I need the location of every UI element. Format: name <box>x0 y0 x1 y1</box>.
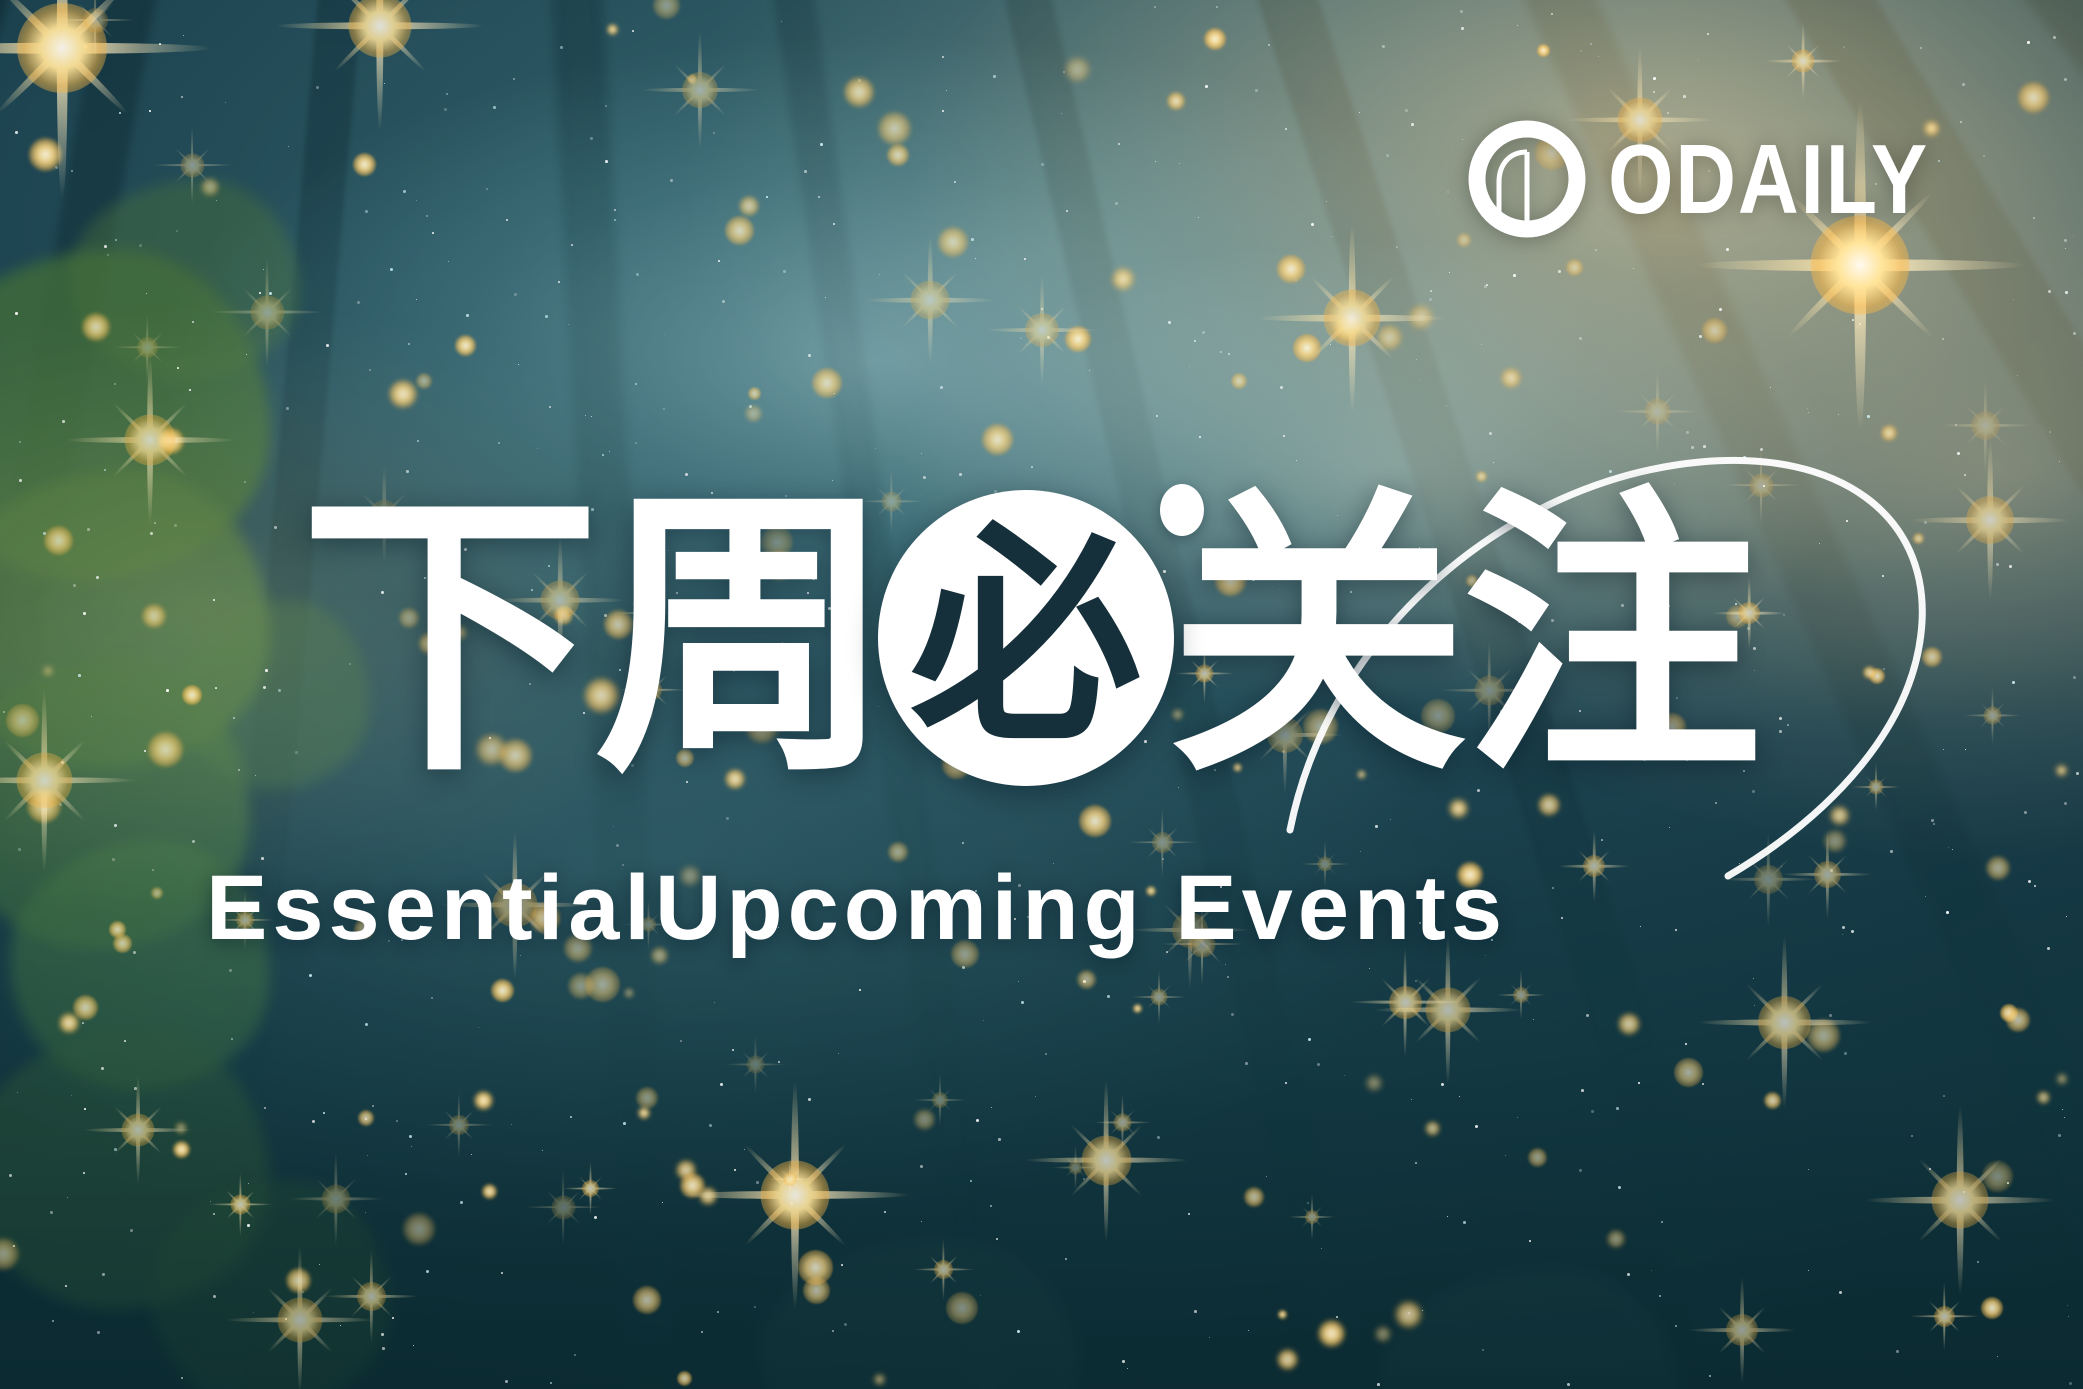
sparkle-dot <box>574 1354 576 1356</box>
sparkle-dot <box>825 297 826 298</box>
sparkle-dot <box>1194 1310 1197 1313</box>
sparkle-dot <box>1952 849 1953 850</box>
sparkle-dot <box>1430 290 1432 292</box>
sparkle-dot <box>732 1049 734 1051</box>
bokeh-light <box>1167 92 1185 110</box>
sparkle-dot <box>15 131 18 134</box>
sparkle-dot <box>215 687 217 689</box>
bokeh-light <box>1922 647 1942 667</box>
sparkle-dot <box>1590 43 1592 45</box>
sparkle-dot <box>808 354 811 357</box>
sparkle-dot <box>1336 1316 1338 1318</box>
sparkle-dot <box>372 1105 374 1107</box>
bokeh-light <box>1277 255 1305 283</box>
sparkle-dot <box>1396 246 1398 248</box>
sparkle-dot <box>50 1211 53 1214</box>
sparkle-dot <box>159 43 161 45</box>
bokeh-light <box>1981 1297 2003 1319</box>
sparkle-dot <box>213 1213 215 1215</box>
sparkle-dot <box>720 1083 723 1086</box>
bokeh-light <box>1409 305 1433 329</box>
sparkle-dot <box>1929 1168 1931 1170</box>
sparkle-dot <box>605 105 607 107</box>
sparkle-dot <box>181 96 183 98</box>
bokeh-light <box>687 74 697 84</box>
sparkle-dot <box>286 407 289 410</box>
sparkle-dot <box>635 383 637 385</box>
sparkle-dot <box>602 454 604 456</box>
sparkle-dot <box>1020 337 1022 339</box>
sparkle-dot <box>1807 408 1808 409</box>
bokeh-light <box>1764 1092 1781 1109</box>
sparkle-dot <box>781 21 782 22</box>
sparkle-dot <box>134 1087 137 1090</box>
bokeh-light <box>1913 533 1924 544</box>
sparkle-dot <box>295 751 298 754</box>
bokeh-light <box>1065 57 1090 82</box>
sparkle-dot <box>844 1323 847 1326</box>
sparkle-dot <box>635 442 637 444</box>
bokeh-light <box>938 227 968 257</box>
sparkle-dot <box>19 479 22 482</box>
sparkle-dot <box>96 576 99 579</box>
sparkle-dot <box>149 110 151 112</box>
bokeh-light <box>1231 373 1247 389</box>
bokeh-light <box>113 934 132 953</box>
sparkle-dot <box>1846 520 1848 522</box>
sparkle-dot <box>1481 344 1482 345</box>
sparkle-dot <box>1955 424 1957 426</box>
sparkle-dot <box>1155 161 1156 162</box>
sparkle-dot <box>1859 323 1861 325</box>
sparkle-dot <box>265 669 268 672</box>
bokeh-light <box>173 1141 190 1158</box>
sparkle-dot <box>1122 1360 1125 1363</box>
sparkle-dot <box>613 826 614 827</box>
bokeh-light <box>491 979 514 1002</box>
sparkle-dot <box>980 1295 981 1296</box>
sparkle-dot <box>1779 730 1782 733</box>
bokeh-light <box>151 887 163 899</box>
sparkle-dot <box>244 481 246 483</box>
sparkle-dot <box>1447 191 1449 193</box>
sparkle-dot <box>1882 575 1884 577</box>
sparkle-dot <box>946 90 947 91</box>
sparkle-dot <box>486 188 488 190</box>
sparkle-dot <box>1411 123 1414 126</box>
sparkle-dot <box>2009 565 2012 568</box>
sparkle-dot <box>177 367 179 369</box>
sparkle-dot <box>471 1154 472 1155</box>
bokeh-light <box>1112 268 1134 290</box>
sparkle-dot <box>15 312 18 315</box>
sparkle-dot <box>1842 934 1843 935</box>
sparkle-dot <box>560 46 563 49</box>
sparkle-dot <box>83 612 86 615</box>
sparkle-dot <box>605 160 608 163</box>
bokeh-light <box>2006 1008 2030 1032</box>
sparkle-dot <box>614 219 616 221</box>
sparkle-dot <box>130 1229 133 1232</box>
sparkle-dot <box>514 293 517 296</box>
sparkle-dot <box>1179 163 1180 164</box>
sparkle-dot <box>841 1264 843 1266</box>
sparkle-dot <box>102 1273 105 1276</box>
sparkle-dot <box>1702 1083 1704 1085</box>
sparkle-dot <box>1707 33 1709 35</box>
sparkle-dot <box>19 441 21 443</box>
bokeh-light <box>1566 259 1583 276</box>
bokeh-light <box>1133 1004 1142 1013</box>
sparkle-dot <box>71 170 73 172</box>
sparkle-dot <box>1041 308 1043 310</box>
sparkle-dot <box>1852 319 1854 321</box>
sparkle-dot <box>1896 1350 1899 1353</box>
sparkle-dot <box>879 274 880 275</box>
sparkle-dot <box>766 196 768 198</box>
sparkle-dot <box>991 1107 992 1108</box>
sparkle-dot <box>542 1150 543 1151</box>
sparkle-dot <box>1667 112 1669 114</box>
sparkle-dot <box>1083 1178 1085 1180</box>
sparkle-dot <box>1416 359 1417 360</box>
headline-badge: 必 <box>878 490 1174 786</box>
sparkle-dot <box>104 469 106 471</box>
sparkle-dot <box>713 132 715 134</box>
sparkle-dot <box>213 1295 216 1298</box>
bokeh-light <box>1986 856 2010 880</box>
bokeh-light <box>416 373 432 389</box>
page-subtitle: EssentialUpcoming Events <box>206 852 1507 964</box>
sparkle-dot <box>1924 521 1927 524</box>
sparkle-dot <box>570 1116 572 1118</box>
bokeh-light <box>1702 318 1727 343</box>
sparkle-dot <box>714 1002 715 1003</box>
sparkle-dot <box>416 299 417 300</box>
sparkle-dot <box>498 442 500 444</box>
sparkle-dot <box>189 389 191 391</box>
sparkle-dot <box>2073 676 2076 679</box>
sparkle-dot <box>537 448 538 449</box>
bokeh-light <box>182 685 202 705</box>
sparkle-dot <box>942 56 944 58</box>
sparkle-dot <box>518 364 519 365</box>
sparkle-dot <box>369 369 371 371</box>
sparkle-dot <box>1726 248 1729 251</box>
sparkle-dot <box>2064 802 2067 805</box>
sparkle-dot <box>67 1197 68 1198</box>
bokeh-light <box>1375 1326 1391 1342</box>
bokeh-light <box>1807 1019 1840 1052</box>
sparkle-dot <box>1760 448 1763 451</box>
sparkle-dot <box>1601 839 1603 841</box>
bokeh-light <box>2056 765 2067 776</box>
sparkle-dot <box>1819 543 1820 544</box>
sparkle-dot <box>326 344 329 347</box>
sparkle-dot <box>2066 916 2067 917</box>
bokeh-light <box>403 1213 435 1245</box>
bokeh-light <box>455 335 476 356</box>
sparkle-dot <box>1024 258 1026 260</box>
sparkle-dot <box>1296 460 1297 461</box>
sparkle-dot <box>571 244 573 246</box>
sparkle-dot <box>493 106 496 109</box>
bokeh-light <box>201 178 219 196</box>
bokeh-light <box>638 1107 650 1119</box>
sparkle-dot <box>2064 78 2067 81</box>
sparkle-dot <box>717 1311 719 1313</box>
sparkle-dot <box>1285 128 1287 130</box>
sparkle-dot <box>1886 303 1887 304</box>
sparkle-dot <box>426 1270 429 1273</box>
sparkle-dot <box>18 848 21 851</box>
sparkle-dot <box>192 840 195 843</box>
sparkle-dot <box>114 1148 117 1151</box>
odaily-logo[interactable]: ODAILY <box>1468 120 1981 238</box>
bokeh-light <box>1366 1075 1382 1091</box>
sparkle-dot <box>833 223 835 225</box>
sparkle-dot <box>1675 929 1677 931</box>
sparkle-dot <box>665 334 666 335</box>
sparkle-dot <box>431 997 433 999</box>
bokeh-light <box>585 967 620 1002</box>
sparkle-dot <box>734 1169 736 1171</box>
bokeh-light <box>1277 1349 1298 1370</box>
sparkle-dot <box>1829 1014 1832 1017</box>
sparkle-dot <box>1627 1273 1630 1276</box>
sparkle-dot <box>213 599 215 601</box>
sparkle-dot <box>119 112 121 114</box>
sparkle-dot <box>1035 1096 1036 1097</box>
sparkle-dot <box>114 383 116 385</box>
bokeh-light <box>946 1292 978 1324</box>
sparkle-dot <box>133 951 136 954</box>
sparkle-dot <box>1517 1117 1518 1118</box>
sparkle-dot <box>312 1120 315 1123</box>
sparkle-dot <box>1946 911 1949 914</box>
sparkle-dot <box>432 232 434 234</box>
bokeh-light <box>1204 28 1226 50</box>
sparkle-dot <box>382 1347 385 1350</box>
sparkle-dot <box>288 146 289 147</box>
sparkle-dot <box>1661 1221 1663 1223</box>
sparkle-dot <box>466 314 469 317</box>
sparkle-dot <box>820 143 823 146</box>
bokeh-light <box>636 1087 658 1109</box>
badge-glyph: 必 <box>878 490 1174 786</box>
bokeh-light <box>624 988 634 998</box>
sparkle-dot <box>238 769 240 771</box>
sparkle-dot <box>408 343 410 345</box>
bokeh-light <box>175 1122 187 1134</box>
sparkle-dot <box>993 75 996 78</box>
sparkle-dot <box>1965 749 1966 750</box>
bokeh-light <box>1830 806 1849 825</box>
sparkle-dot <box>1280 386 1283 389</box>
sparkle-dot <box>1787 724 1789 726</box>
sparkle-dot <box>1475 1125 1478 1128</box>
sparkle-dot <box>1561 917 1563 919</box>
sparkle-dot <box>87 528 90 531</box>
bokeh-light <box>798 1250 833 1285</box>
sparkle-dot <box>1225 964 1226 965</box>
bokeh-light <box>482 1184 497 1199</box>
odaily-circle-p-mark-icon <box>1468 120 1586 238</box>
sparkle-dot <box>1513 274 1516 277</box>
bokeh-light <box>1278 1310 1287 1319</box>
sparkle-dot <box>2047 947 2050 950</box>
sparkle-dot <box>365 1023 368 1026</box>
sparkle-dot <box>1719 308 1722 311</box>
sparkle-dot <box>1154 6 1156 8</box>
sparkle-dot <box>1484 285 1487 288</box>
bokeh-light <box>1293 334 1321 362</box>
sparkle-dot <box>636 273 639 276</box>
bokeh-light <box>1982 1161 2013 1192</box>
sparkle-dot <box>1382 45 1385 48</box>
bokeh-light <box>59 1013 79 1033</box>
sparkle-dot <box>754 1306 756 1308</box>
sparkle-dot <box>2027 41 2030 44</box>
sparkle-dot <box>1255 89 1258 92</box>
bokeh-light <box>1537 44 1550 57</box>
sparkle-dot <box>1867 415 1870 418</box>
bokeh-light <box>982 424 1013 455</box>
sparkle-dot <box>84 45 87 48</box>
bokeh-light <box>914 1109 935 1130</box>
sparkle-dot <box>381 1333 384 1336</box>
sparkle-dot <box>1326 201 1327 202</box>
headline-prefix: 下周 <box>300 488 888 788</box>
sparkle-dot <box>1931 819 1934 822</box>
sparkle-dot <box>632 30 634 32</box>
sparkle-dot <box>1463 1221 1466 1224</box>
bokeh-light <box>474 1091 493 1110</box>
sparkle-dot <box>2049 431 2051 433</box>
sparkle-dot <box>2064 239 2067 242</box>
sparkle-dot <box>1405 109 1408 112</box>
sparkle-dot <box>701 1331 703 1333</box>
bokeh-light <box>27 789 61 823</box>
sparkle-dot <box>1021 1001 1024 1004</box>
bokeh-light <box>1607 1230 1625 1248</box>
bokeh-light <box>286 1268 311 1293</box>
sparkle-dot <box>1616 1107 1619 1110</box>
bokeh-light <box>389 380 417 408</box>
sparkle-dot <box>1194 340 1196 342</box>
sparkle-dot <box>670 179 673 182</box>
sparkle-dot <box>1429 298 1432 301</box>
sparkle-dot <box>998 1138 1001 1141</box>
bokeh-light <box>739 196 759 216</box>
sparkle-dot <box>1018 981 1019 982</box>
sparkle-dot <box>247 1224 250 1227</box>
bokeh-light <box>1079 805 1111 837</box>
sparkle-dot <box>84 1108 86 1110</box>
sparkle-dot <box>61 761 64 764</box>
sparkle-dot <box>2067 1305 2068 1306</box>
sparkle-dot <box>82 1022 84 1024</box>
sparkle-dot <box>274 526 277 529</box>
sparkle-dot <box>1461 27 1464 30</box>
bokeh-light <box>43 666 53 676</box>
bokeh-light <box>745 405 762 422</box>
sparkle-dot <box>104 245 107 248</box>
bokeh-light <box>1065 326 1091 352</box>
bokeh-light <box>887 144 909 166</box>
sparkle-dot <box>1529 1240 1531 1242</box>
sparkle-dot <box>83 1172 85 1174</box>
sparkle-dot <box>319 1264 320 1265</box>
sparkle-dot <box>1844 1052 1847 1055</box>
sparkle-dot <box>1763 485 1765 487</box>
sparkle-dot <box>976 1119 979 1122</box>
bokeh-light <box>844 77 874 107</box>
sparkle-dot <box>216 200 217 201</box>
sparkle-dot <box>1838 414 1839 415</box>
bokeh-light <box>1501 368 1521 388</box>
sparkle-dot <box>1890 850 1893 853</box>
bokeh-light <box>812 368 842 398</box>
bokeh-light <box>1528 1148 1547 1167</box>
sparkle-dot <box>1703 445 1706 448</box>
bokeh-light <box>353 153 376 176</box>
sparkle-dot <box>1964 474 1966 476</box>
sparkle-dot <box>1205 85 1208 88</box>
sparkle-dot <box>1638 1082 1640 1084</box>
sparkle-dot <box>1199 436 1201 438</box>
sparkle-dot <box>549 406 551 408</box>
sparkle-dot <box>1883 668 1885 670</box>
sparkle-dot <box>506 219 508 221</box>
bokeh-light <box>1318 1320 1345 1347</box>
bokeh-light <box>44 526 73 555</box>
sparkle-dot <box>152 869 154 871</box>
sparkle-dot <box>65 1285 67 1287</box>
bokeh-light <box>1395 1301 1422 1328</box>
sparkle-dot <box>804 170 807 173</box>
sparkle-dot <box>405 1173 407 1175</box>
sparkle-dot <box>183 35 184 36</box>
sparkle-dot <box>662 1202 663 1203</box>
sparkle-dot <box>1245 1062 1248 1065</box>
sparkle-dot <box>1685 1043 1687 1045</box>
sparkle-dot <box>1779 717 1782 720</box>
bokeh-light <box>6 704 39 737</box>
sparkle-dot <box>365 210 368 213</box>
sparkle-dot <box>2073 332 2076 335</box>
bokeh-light <box>2037 1091 2050 1104</box>
sparkle-dot <box>501 1272 503 1274</box>
sparkle-dot <box>1107 995 1110 998</box>
sparkle-dot <box>323 1112 325 1114</box>
sparkle-dot <box>1216 6 1218 8</box>
bokeh-light <box>158 428 184 454</box>
sparkle-dot <box>590 137 593 140</box>
sparkle-dot <box>1517 25 1518 26</box>
sparkle-dot <box>115 239 117 241</box>
bokeh-light <box>1618 1013 1640 1035</box>
sparkle-dot <box>78 674 81 677</box>
sparkle-dot <box>1933 823 1935 825</box>
sparkle-dot <box>921 1221 922 1222</box>
page-title: 下周 必 关注 <box>300 468 1756 808</box>
bokeh-light <box>1674 1058 1703 1087</box>
sparkle-dot <box>1377 1383 1380 1386</box>
sparkle-dot <box>413 1345 414 1346</box>
sparkle-dot <box>2053 36 2056 39</box>
sparkle-dot <box>166 689 169 692</box>
